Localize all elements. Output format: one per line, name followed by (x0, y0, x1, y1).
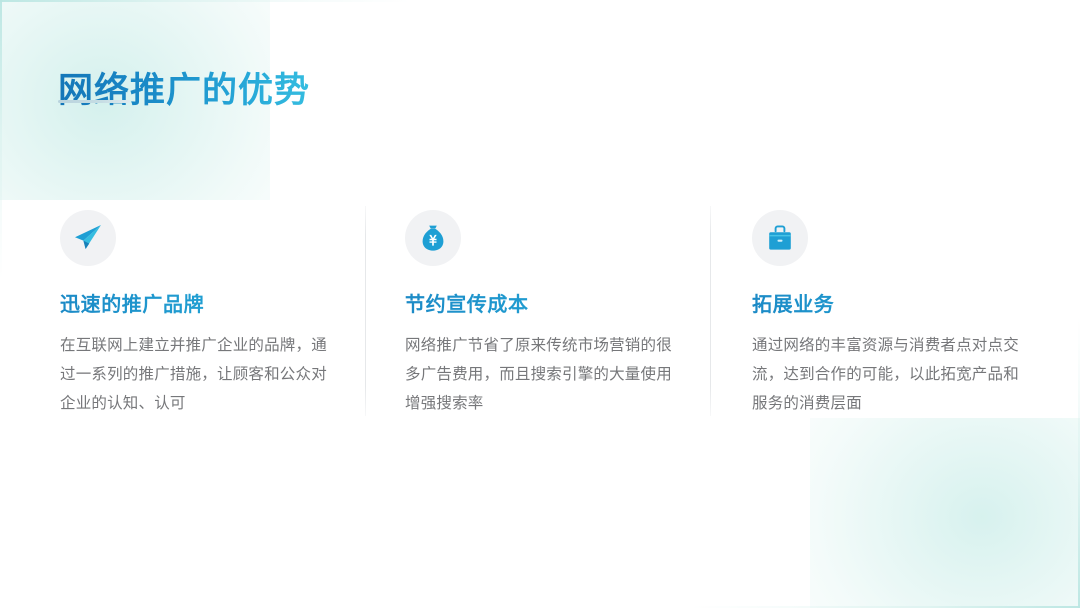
feature-body-3: 通过网络的丰富资源与消费者点对点交流，达到合作的可能，以此拓宽产品和服务的消费层… (752, 331, 1028, 418)
paper-plane-icon (73, 223, 103, 253)
feature-column-1: 迅速的推广品牌 在互联网上建立并推广企业的品牌，通过一系列的推广措施，让顾客和公… (60, 210, 338, 418)
icon-badge-3 (752, 210, 808, 266)
icon-badge-2 (405, 210, 461, 266)
feature-heading-2: 节约宣传成本 (405, 292, 683, 318)
feature-body-2: 网络推广节省了原来传统市场营销的很多广告费用，而且搜索引擎的大量使用增强搜索率 (405, 331, 677, 418)
briefcase-icon (765, 223, 795, 253)
feature-heading-1: 迅速的推广品牌 (60, 292, 338, 318)
money-bag-icon (418, 223, 448, 253)
column-divider-2 (710, 206, 711, 416)
icon-badge-1 (60, 210, 116, 266)
slide-canvas: 网络推广的优势 迅速的推广品牌 在互联网上建立并推广企业的品牌，通过一系列的推广… (0, 0, 1080, 608)
feature-heading-3: 拓展业务 (752, 292, 1030, 318)
feature-body-1: 在互联网上建立并推广企业的品牌，通过一系列的推广措施，让顾客和公众对企业的认知、… (60, 331, 332, 418)
feature-column-3: 拓展业务 通过网络的丰富资源与消费者点对点交流，达到合作的可能，以此拓宽产品和服… (752, 210, 1030, 418)
column-divider-1 (365, 206, 366, 416)
feature-column-2: 节约宣传成本 网络推广节省了原来传统市场营销的很多广告费用，而且搜索引擎的大量使… (405, 210, 683, 418)
feature-columns: 迅速的推广品牌 在互联网上建立并推广企业的品牌，通过一系列的推广措施，让顾客和公… (0, 0, 1080, 608)
